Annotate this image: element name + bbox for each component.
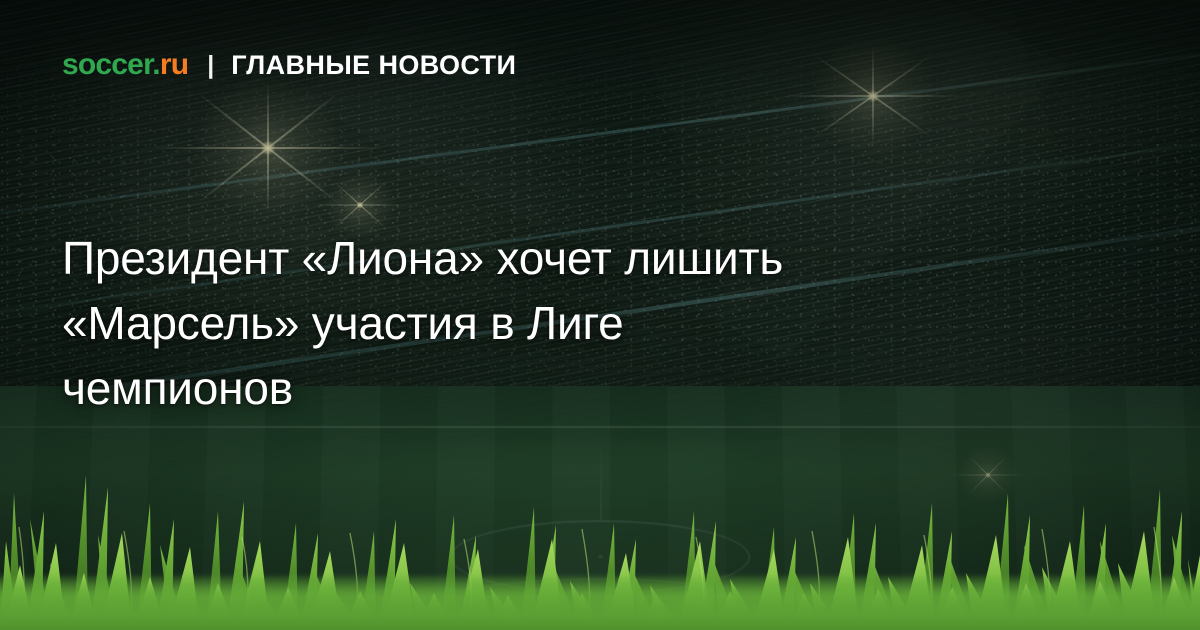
- soccer-ru-logo[interactable]: soccer.ru: [62, 50, 188, 80]
- headline-line: Президент «Лиона» хочет лишить: [62, 226, 1052, 291]
- logo-name-text: soccer: [62, 48, 152, 81]
- logo-tld-text: ru: [160, 48, 188, 81]
- headline-line: чемпионов: [62, 356, 1052, 421]
- news-share-card: soccer.ru | ГЛАВНЫЕ НОВОСТИ Президент «Л…: [0, 0, 1200, 630]
- page-title: Президент «Лиона» хочет лишить «Марсель»…: [62, 226, 1052, 421]
- headline-line: «Марсель» участия в Лиге: [62, 291, 1052, 356]
- header-kicker-label: ГЛАВНЫЕ НОВОСТИ: [231, 52, 516, 79]
- header-separator: |: [207, 53, 214, 78]
- logo-dot-text: .: [152, 48, 160, 81]
- card-header: soccer.ru | ГЛАВНЫЕ НОВОСТИ: [62, 50, 516, 80]
